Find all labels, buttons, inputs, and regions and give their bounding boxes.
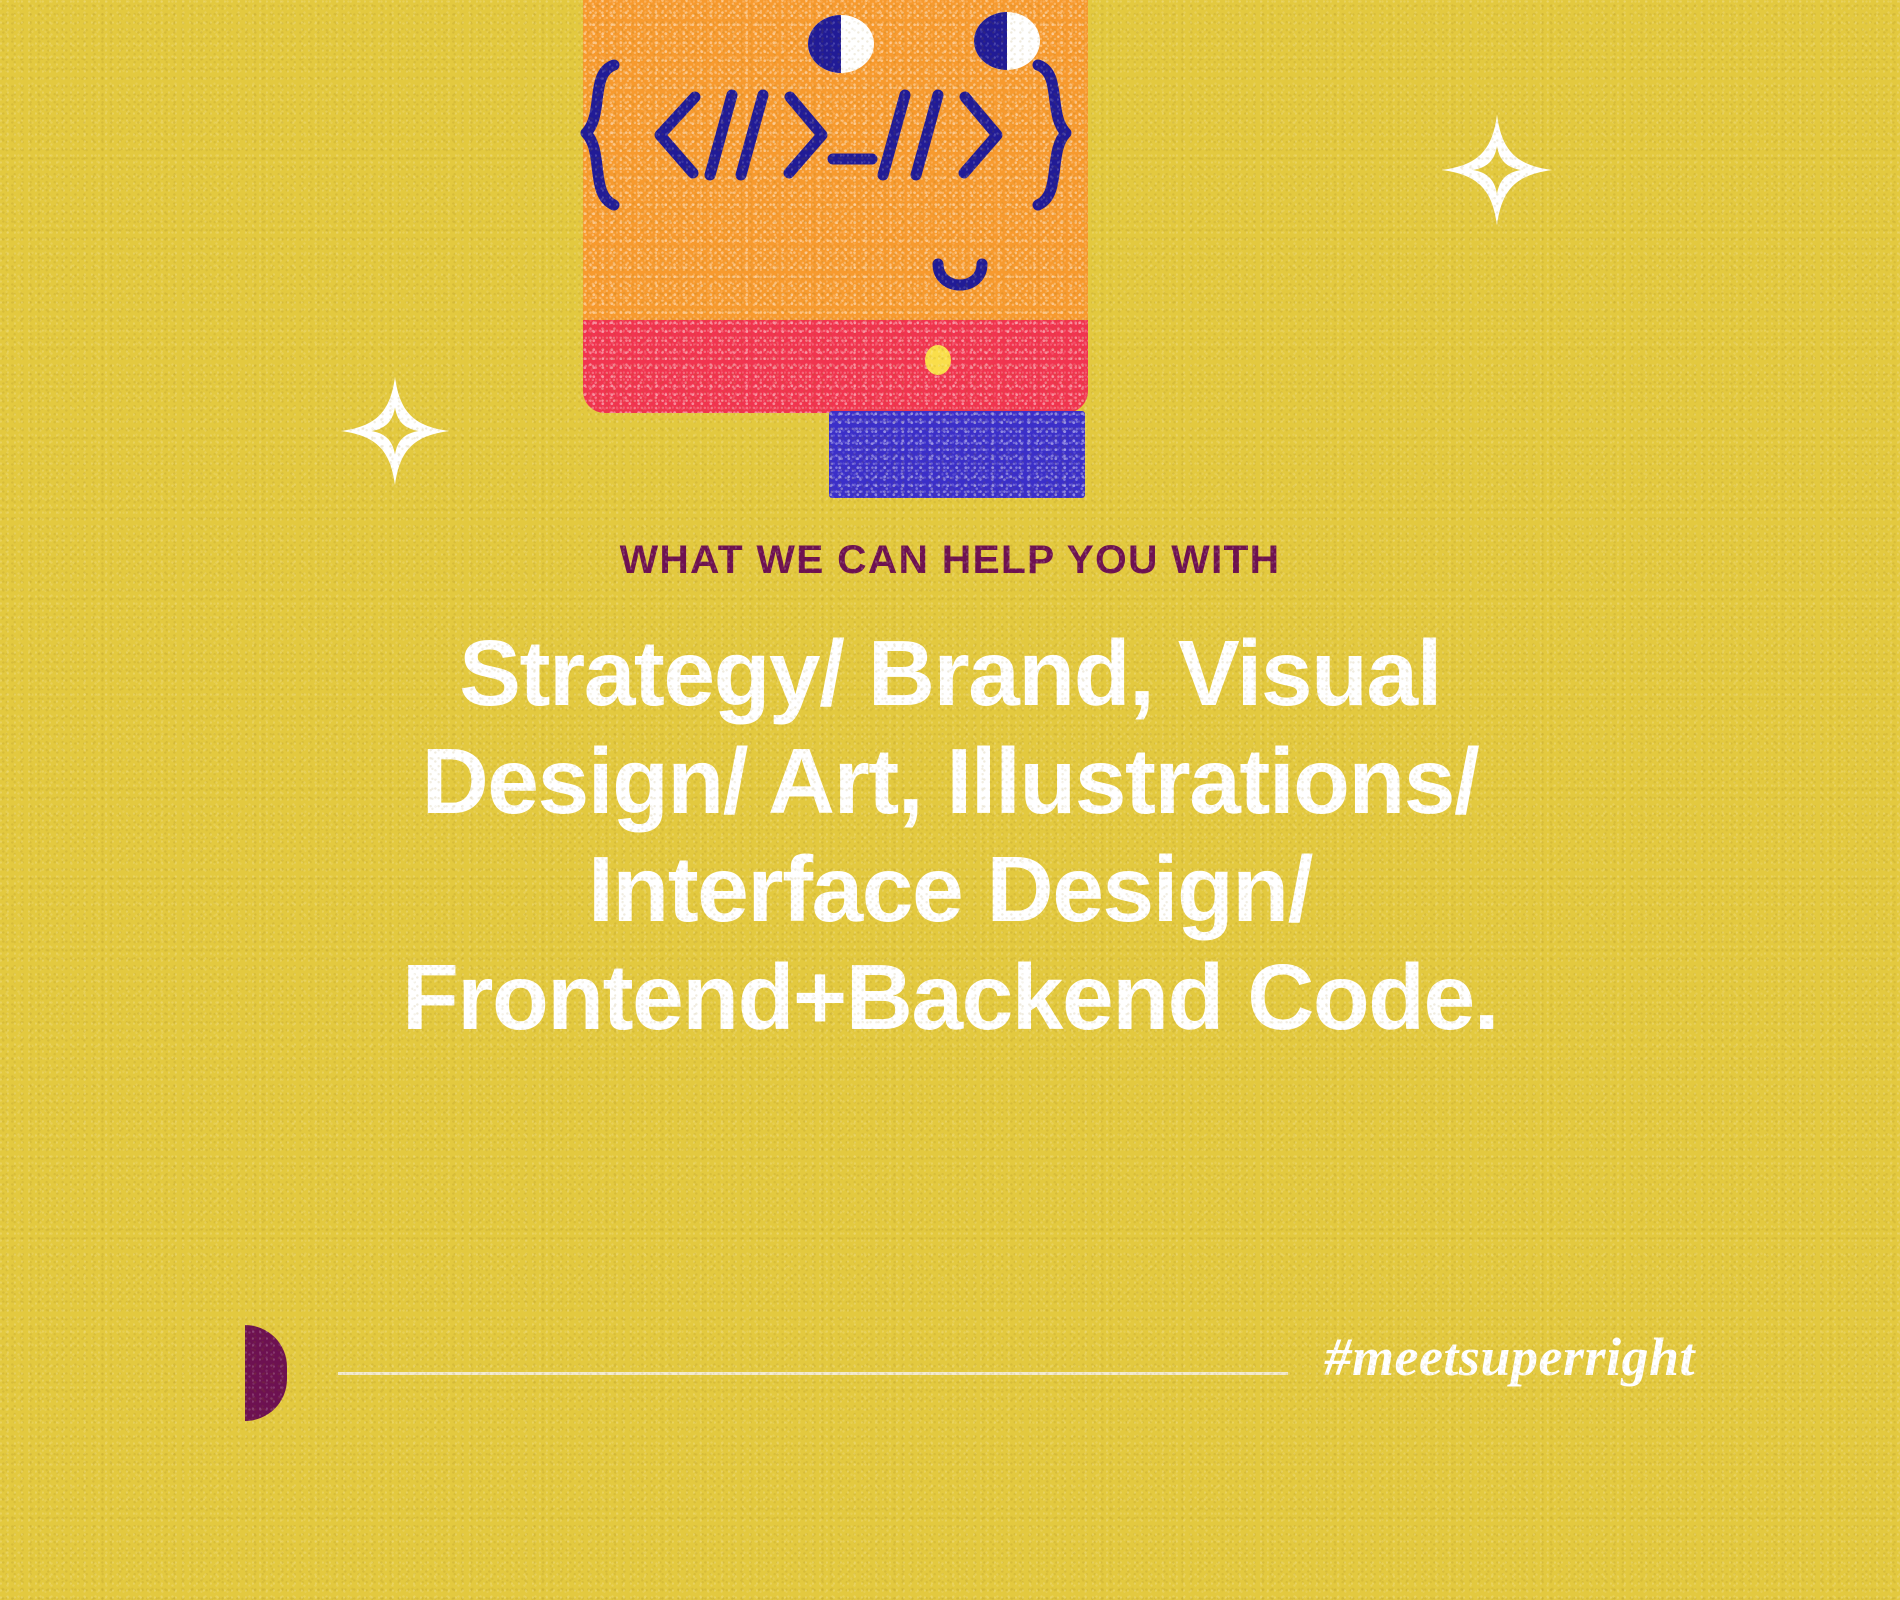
four-point-sparkle-icon [336,372,454,490]
footer-divider [338,1372,1288,1375]
power-indicator-dot-icon [925,345,951,375]
poster-canvas: WHAT WE CAN HELP YOU WITH Strategy/ Bran… [0,0,1900,1600]
eyebrow-label: WHAT WE CAN HELP YOU WITH [0,540,1900,580]
smile-mouth-icon [930,258,990,306]
hashtag-label: #meetsuperright [1324,1330,1695,1384]
half-disc-mark-icon [245,1325,287,1421]
illustration-area [0,0,1900,520]
monitor-stand [829,411,1085,498]
four-point-sparkle-icon [1437,110,1557,230]
ascii-face-code-icon [560,55,1120,225]
page-title: Strategy/ Brand, Visual Design/ Art, Ill… [0,620,1900,1052]
text-block: WHAT WE CAN HELP YOU WITH Strategy/ Bran… [0,540,1900,1052]
monitor-base [583,320,1088,413]
